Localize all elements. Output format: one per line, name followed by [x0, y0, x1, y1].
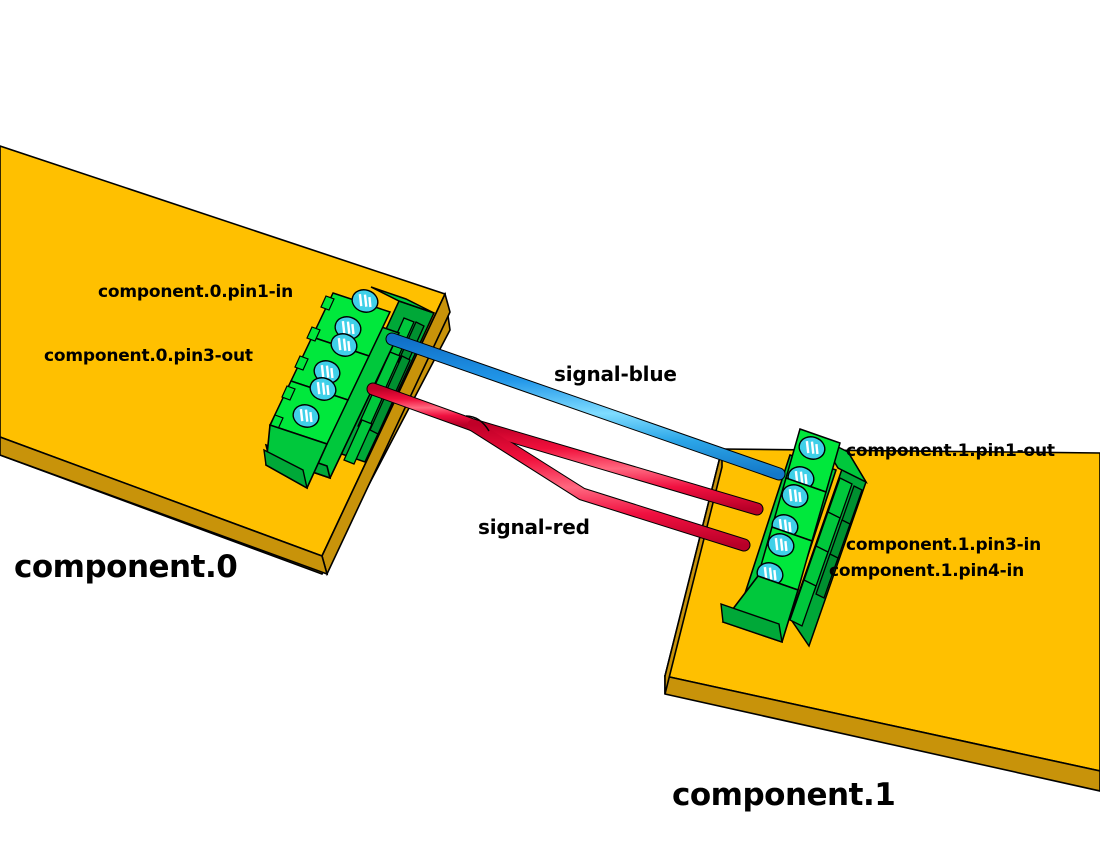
pin-label-component-1-pin4-in: component.1.pin4-in: [829, 563, 1024, 580]
diagram-canvas: component.0.pin1-in component.0.pin3-out…: [0, 0, 1100, 850]
signal-label-red: signal-red: [478, 517, 590, 537]
signal-label-blue: signal-blue: [554, 364, 677, 384]
pin-label-component-0-pin1-in: component.0.pin1-in: [98, 284, 293, 301]
pin-label-component-1-pin1-out: component.1.pin1-out: [846, 443, 1055, 460]
wire-red-branch-a: [473, 425, 757, 509]
board-title-component-1: component.1: [672, 780, 895, 811]
scene-svg: [0, 0, 1100, 850]
board-title-component-0: component.0: [14, 552, 237, 583]
pin-label-component-0-pin3-out: component.0.pin3-out: [44, 348, 253, 365]
pin-label-component-1-pin3-in: component.1.pin3-in: [846, 537, 1041, 554]
